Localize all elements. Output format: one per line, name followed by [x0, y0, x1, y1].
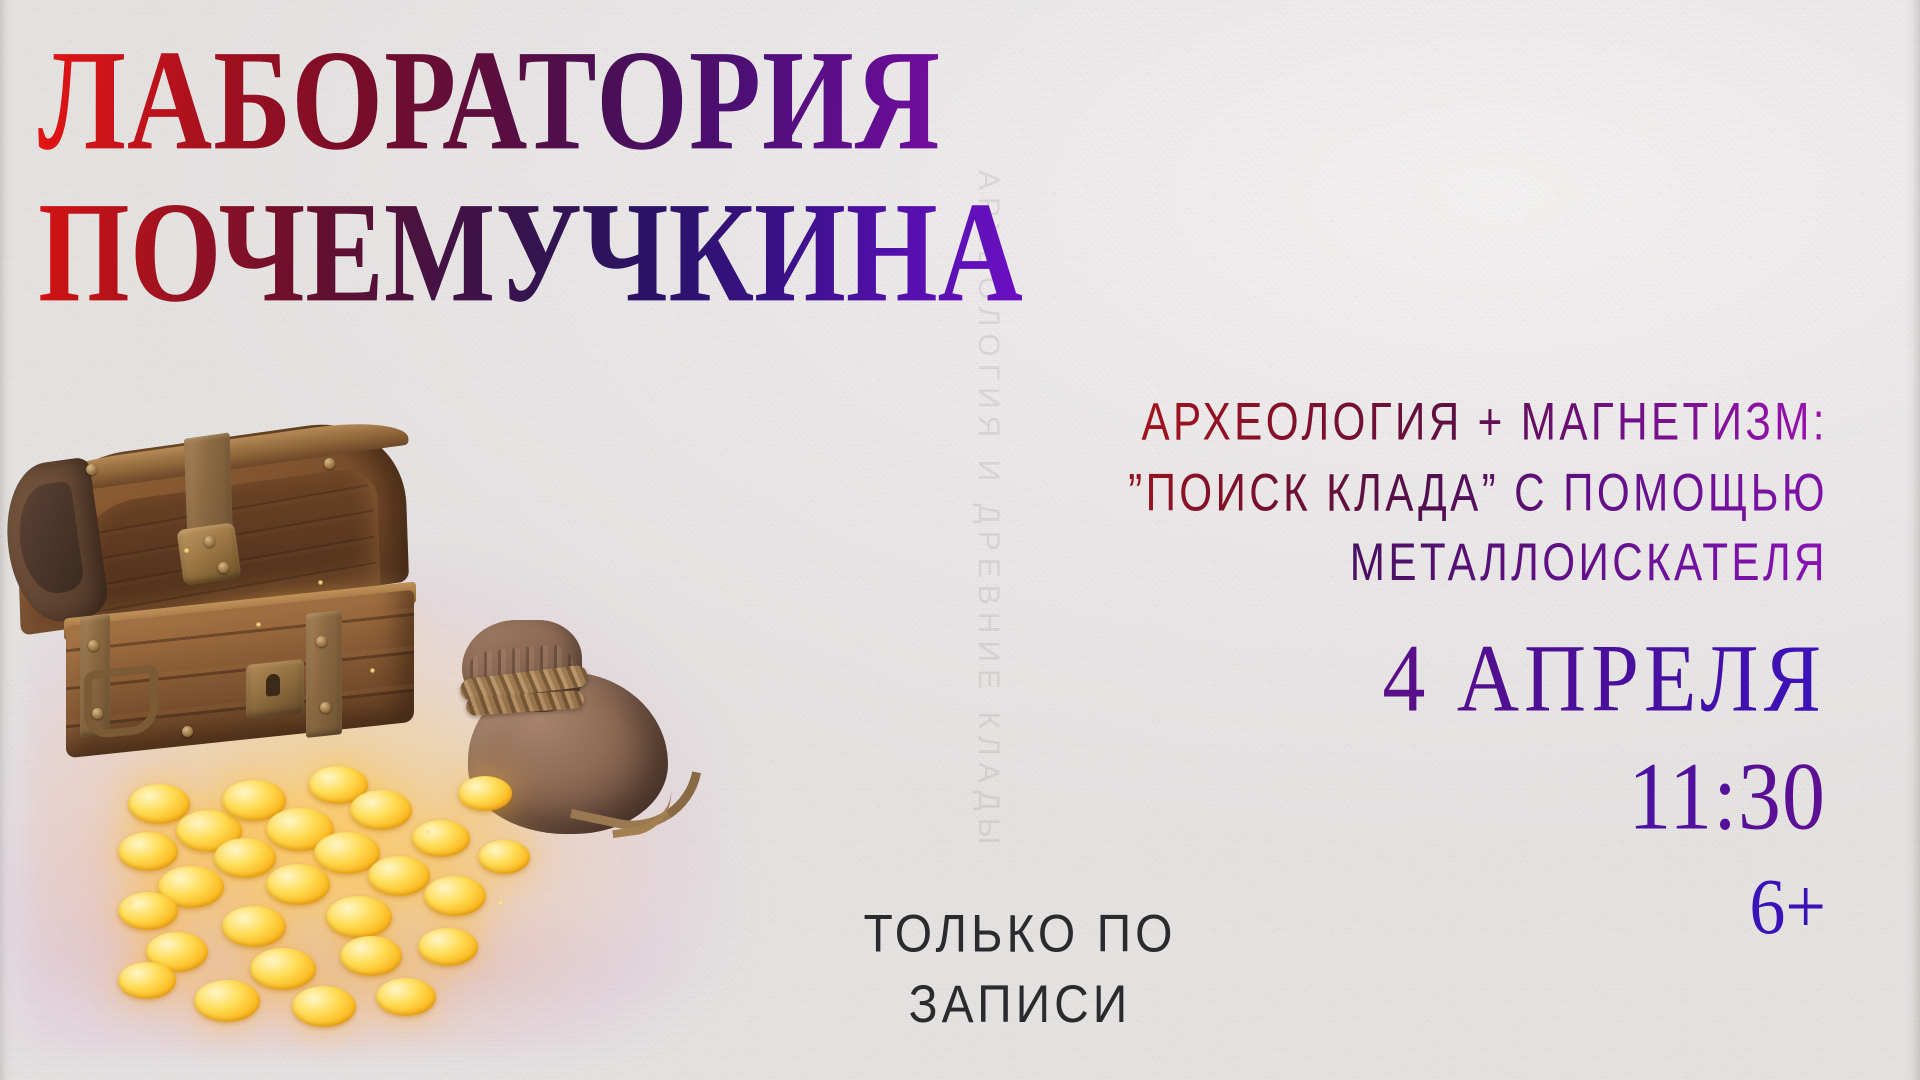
- event-datetime-block: 4 АПРЕЛЯ 11:30 6+: [1382, 630, 1826, 941]
- age-rating-badge: 6+: [1382, 867, 1826, 948]
- subtitle-line-2-text: ”ПОИСК КЛАДА” С ПОМОЩЬЮ: [1128, 463, 1828, 522]
- poster-canvas: АРХЕОЛОГИЯ И ДРЕВНИЕ КЛАДЫ ЛАБОРАТОРИЯ П…: [0, 0, 1920, 1080]
- subtitle-line-3: МЕТАЛЛОИСКАТЕЛЯ: [1128, 528, 1828, 598]
- chest-clasp: [176, 522, 241, 586]
- spilled-gold-coins: [118, 680, 678, 1060]
- booking-note-line-1: ТОЛЬКО ПО: [810, 900, 1230, 970]
- event-time: 11:30: [1382, 748, 1826, 846]
- event-subtitle: АРХЕОЛОГИЯ + МАГНЕТИЗМ: ”ПОИСК КЛАДА” С …: [1128, 388, 1828, 599]
- event-date: 4 АПРЕЛЯ: [1382, 630, 1826, 728]
- treasure-illustration: [0, 430, 848, 1080]
- subtitle-line-2: ”ПОИСК КЛАДА” С ПОМОЩЬЮ: [1128, 458, 1828, 528]
- subtitle-line-1: АРХЕОЛОГИЯ + МАГНЕТИЗМ:: [1128, 388, 1828, 458]
- title-line-pochemuchkina: ПОЧЕМУЧКИНА: [38, 182, 1038, 323]
- paper-right-edge-shadow: [1904, 0, 1920, 1080]
- title-line-laboratoriya: ЛАБОРАТОРИЯ: [38, 30, 1038, 171]
- booking-note: ТОЛЬКО ПО ЗАПИСИ: [810, 900, 1230, 1040]
- page-title: ЛАБОРАТОРИЯ ПОЧЕМУЧКИНА: [38, 30, 1038, 297]
- booking-note-line-2: ЗАПИСИ: [810, 970, 1230, 1040]
- subtitle-line-3-text: МЕТАЛЛОИСКАТЕЛЯ: [1350, 533, 1828, 592]
- subtitle-line-1-text: АРХЕОЛОГИЯ + МАГНЕТИЗМ:: [1142, 393, 1828, 452]
